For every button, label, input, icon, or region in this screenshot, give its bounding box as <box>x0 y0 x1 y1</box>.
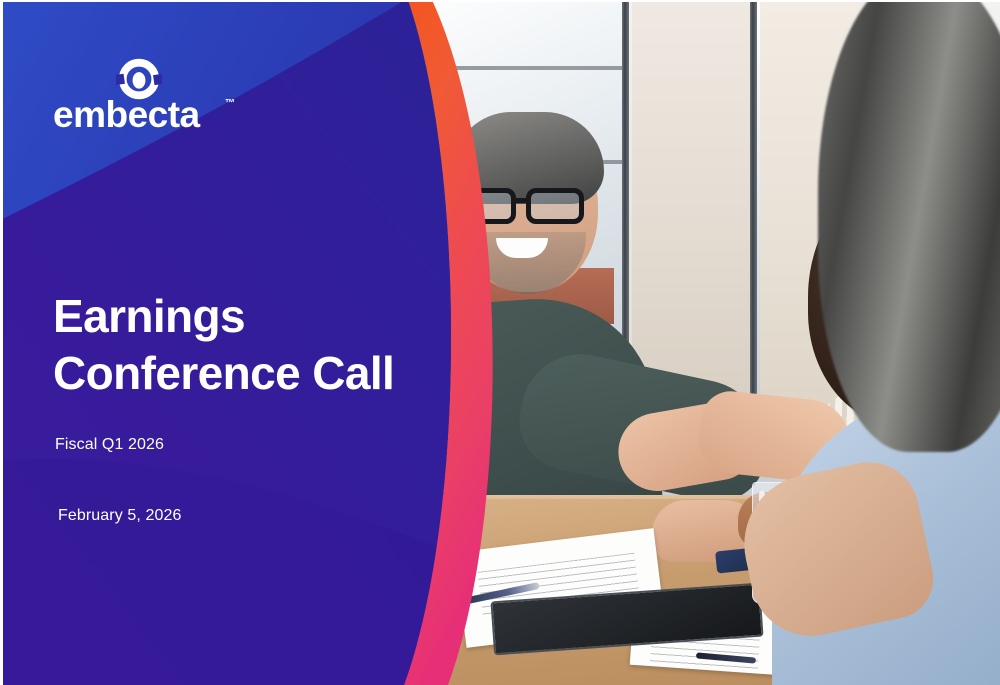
page-title: Earnings Conference Call <box>53 288 433 402</box>
embecta-logo[interactable]: embecta ™ <box>53 56 253 132</box>
title-slide: embecta ™ Earnings Conference Call Fisca… <box>0 0 1000 685</box>
fiscal-period-label: Fiscal Q1 2026 <box>55 436 164 454</box>
presentation-date: February 5, 2026 <box>58 507 181 525</box>
slide-content: embecta ™ Earnings Conference Call Fisca… <box>0 0 440 685</box>
title-line-1: Earnings <box>53 290 245 342</box>
trademark-symbol: ™ <box>225 98 235 109</box>
title-line-2: Conference Call <box>53 345 433 402</box>
embecta-wordmark: embecta <box>53 96 253 133</box>
